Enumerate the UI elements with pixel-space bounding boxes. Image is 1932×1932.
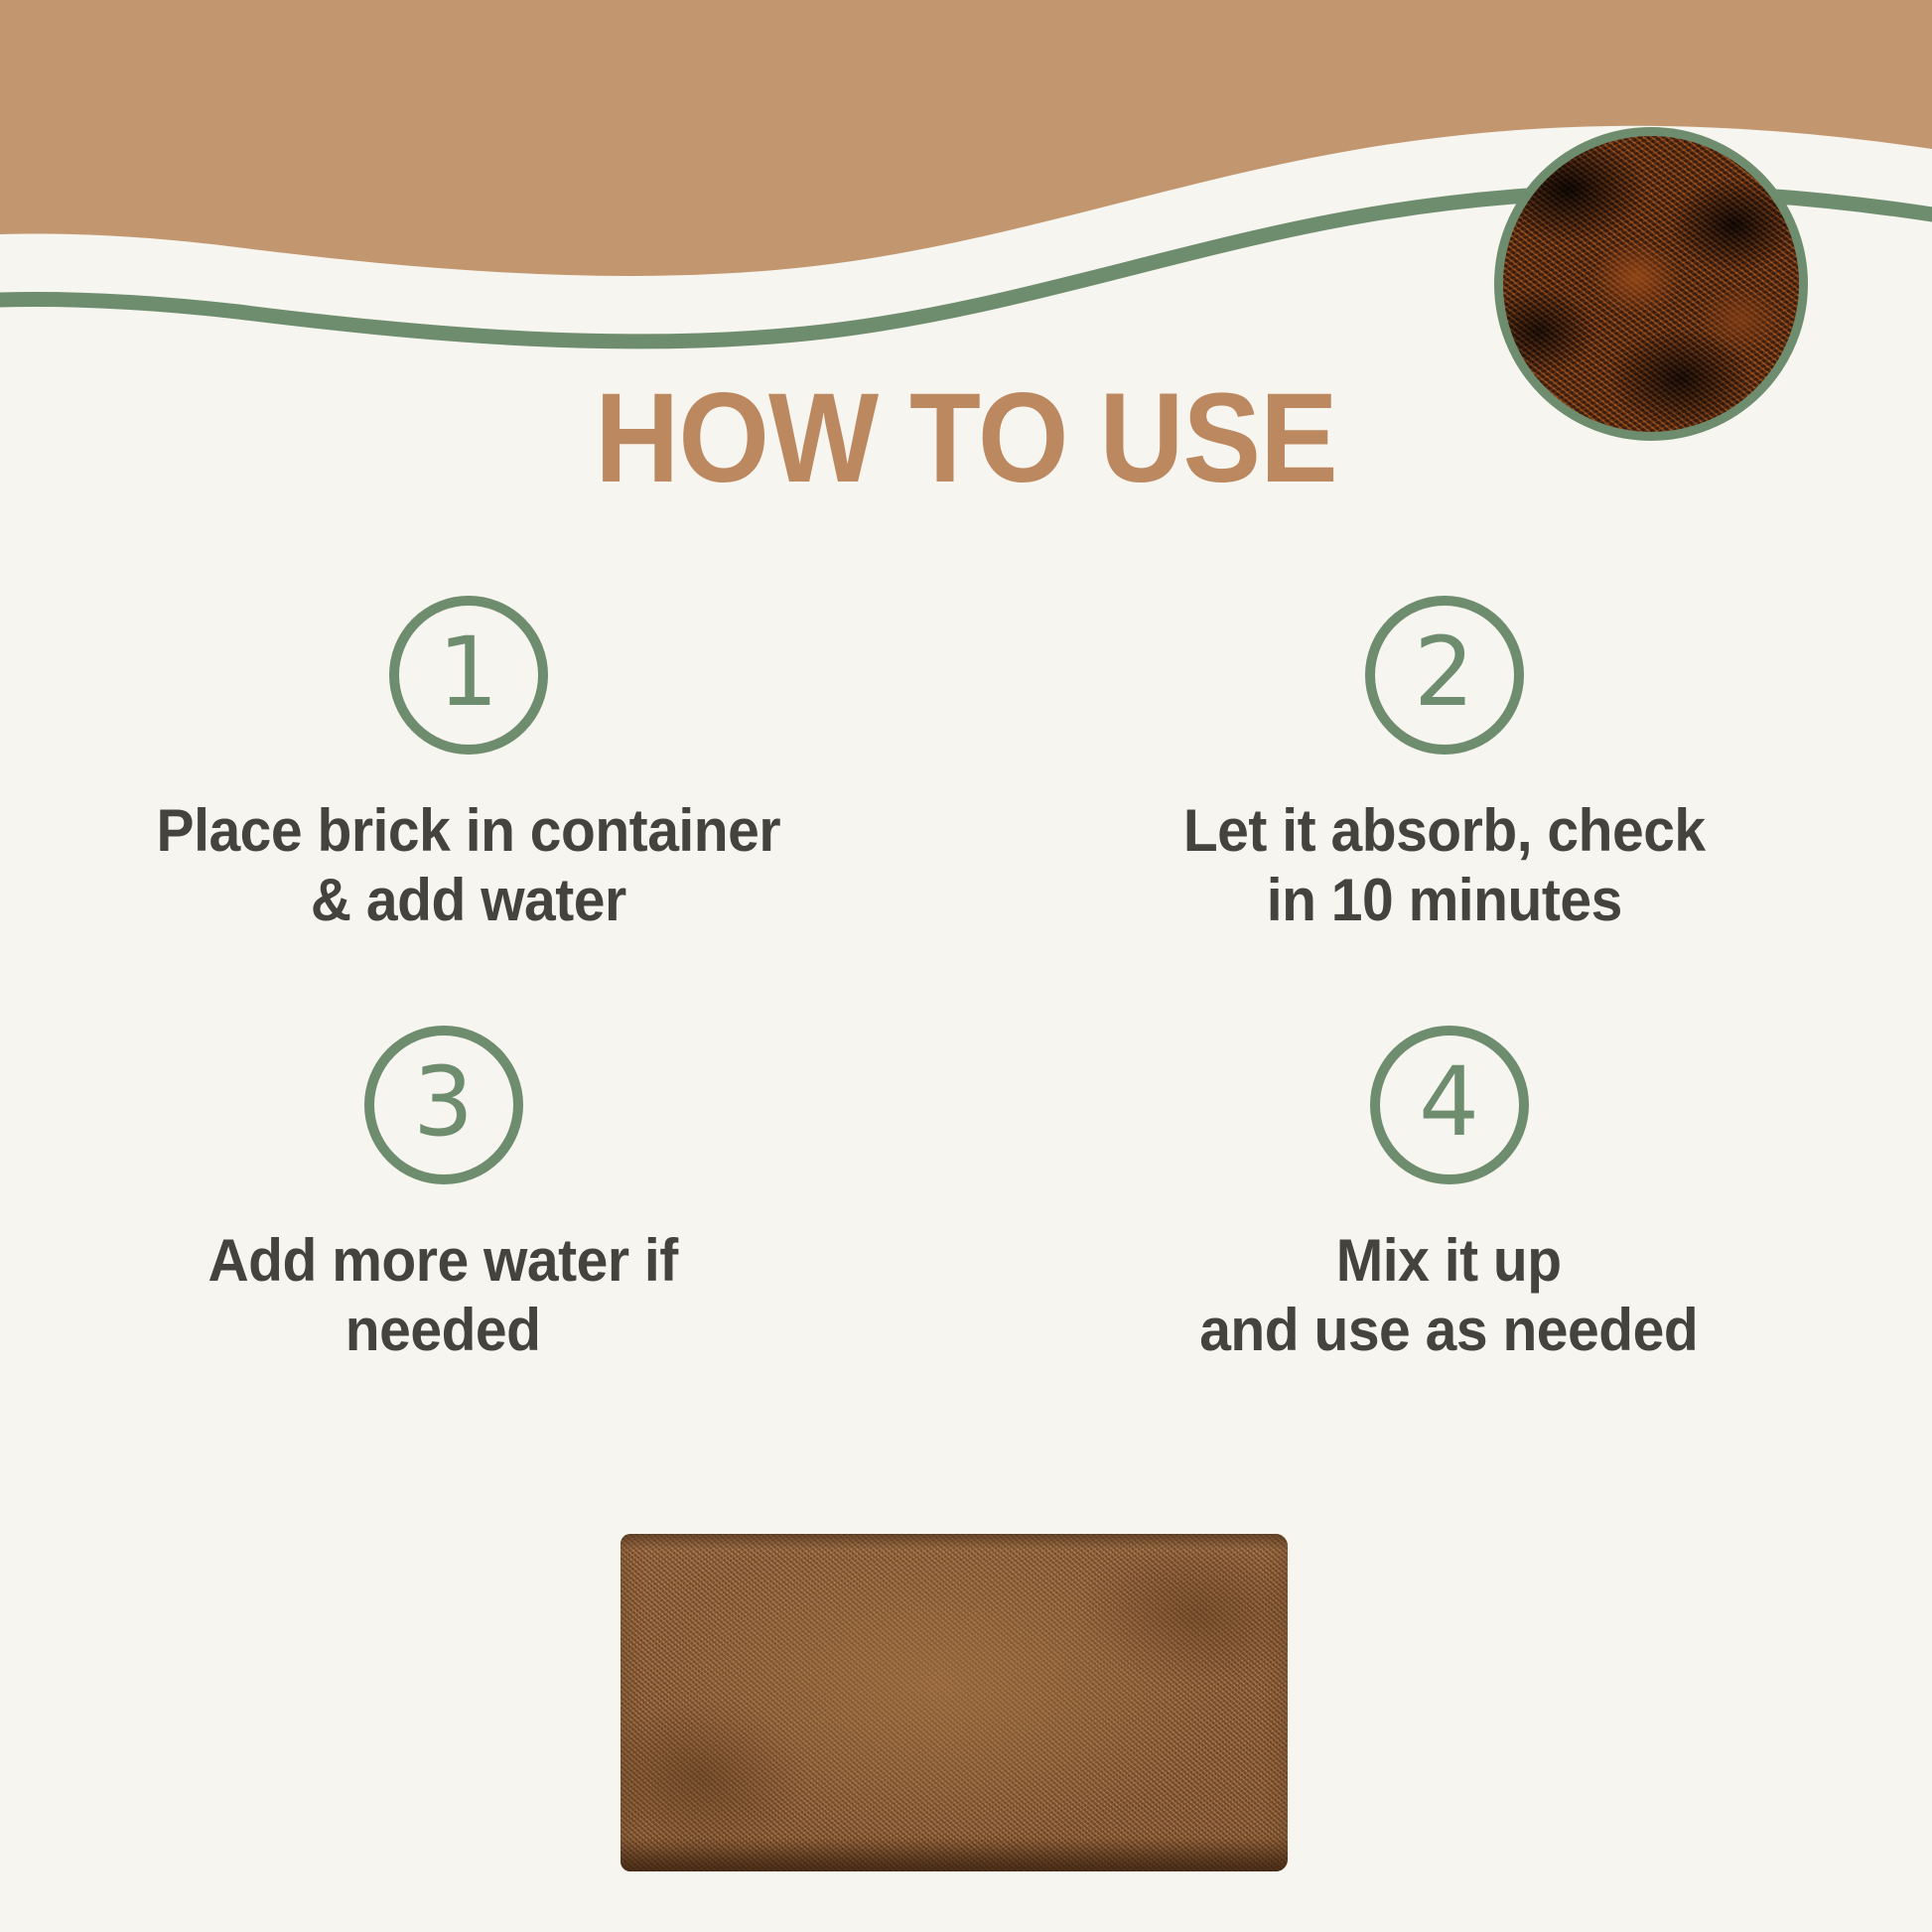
step-1-label: Place brick in container & add water: [156, 796, 780, 934]
step-3: 3 Add more water if needed: [40, 1026, 966, 1364]
step-1: 1 Place brick in container & add water: [40, 596, 966, 934]
coir-brick-image: [621, 1534, 1288, 1871]
step-3-label: Add more water if needed: [208, 1226, 678, 1364]
step-4-label: Mix it up and use as needed: [1200, 1226, 1699, 1364]
step-1-number-badge: 1: [389, 596, 548, 755]
page-title: HOW TO USE: [77, 375, 1855, 502]
step-4: 4 Mix it up and use as needed: [966, 1026, 1892, 1364]
step-2: 2 Let it absorb, check in 10 minutes: [966, 596, 1892, 934]
step-2-number-badge: 2: [1365, 596, 1524, 755]
brick-bottom-edge: [621, 1838, 1288, 1871]
step-2-label: Let it absorb, check in 10 minutes: [1183, 796, 1706, 934]
step-3-number-badge: 3: [364, 1026, 523, 1184]
brick-top-edge: [621, 1534, 1288, 1550]
steps-grid: 1 Place brick in container & add water 2…: [40, 596, 1892, 1364]
how-to-use-infographic: HOW TO USE 1 Place brick in container & …: [0, 0, 1932, 1932]
step-4-number-badge: 4: [1370, 1026, 1529, 1184]
